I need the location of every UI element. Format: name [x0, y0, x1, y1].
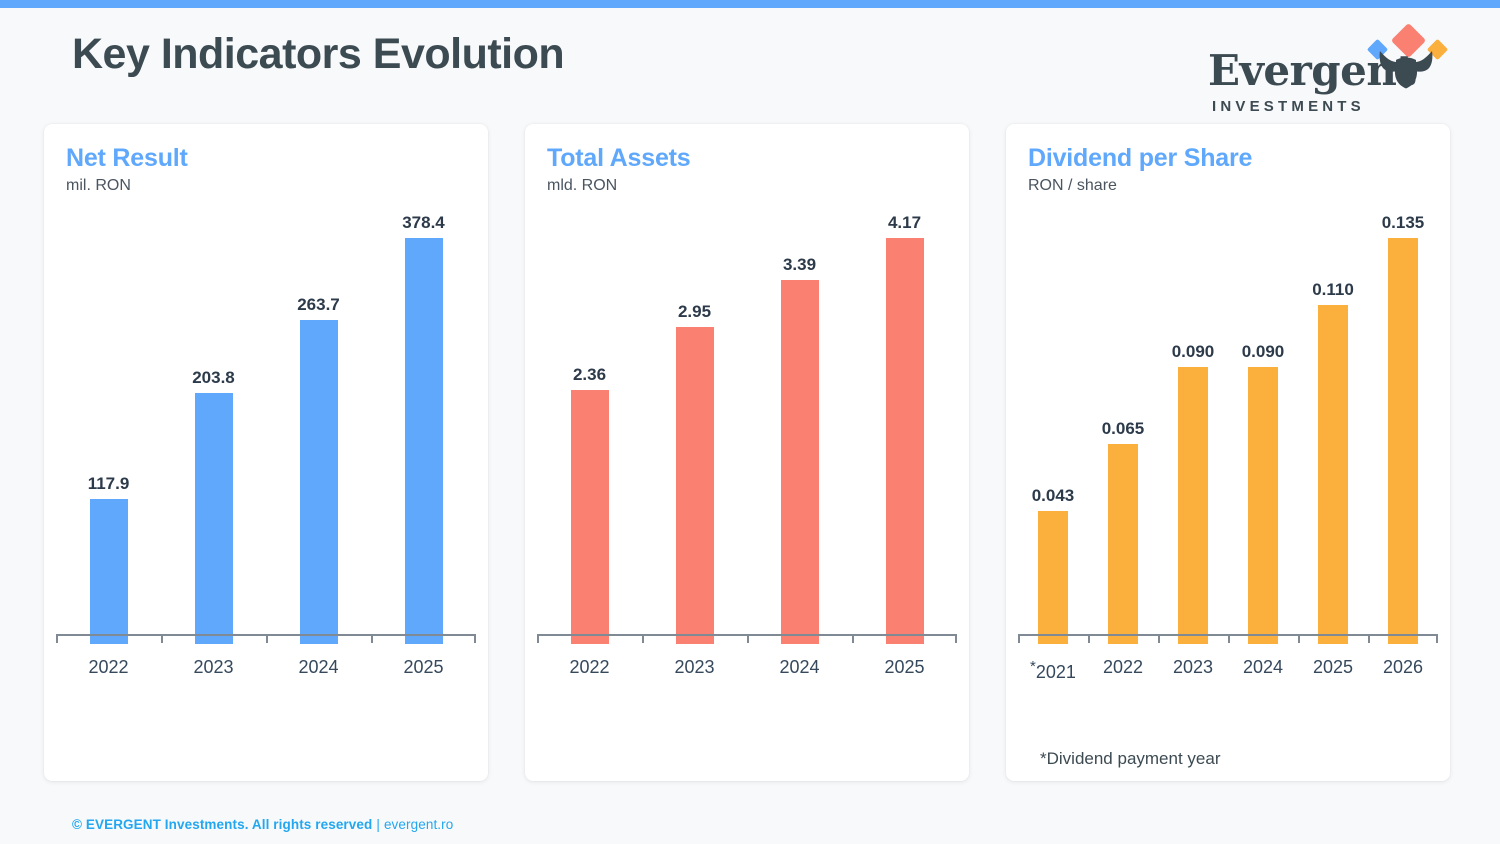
card-total-assets: Total Assets mld. RON 2.36 2.95 3.39 4.1… — [525, 124, 969, 781]
bar-group: 263.7 — [266, 214, 371, 644]
axis-tick — [1018, 634, 1020, 643]
bar — [405, 238, 443, 644]
bar-group: 203.8 — [161, 214, 266, 644]
x-axis-label-text: 2021 — [1036, 662, 1076, 682]
x-axis-label: 2023 — [161, 652, 266, 682]
footer-separator: | — [376, 817, 380, 832]
card-title: Total Assets — [547, 144, 690, 173]
bar-group: 0.043 — [1018, 214, 1088, 644]
slide-header: Key Indicators Evolution Evergent INVEST… — [0, 8, 1500, 118]
x-axis-label: 2024 — [1228, 652, 1298, 682]
x-axis — [56, 634, 476, 644]
cards-container: Net Result mil. RON 117.9 203.8 263.7 37… — [44, 124, 1456, 781]
card-title: Dividend per Share — [1028, 144, 1252, 173]
chart-net-result: 117.9 203.8 263.7 378.4 2022 2023 2024 — [56, 214, 476, 704]
bar-group: 0.135 — [1368, 214, 1438, 644]
chart-footnote: *Dividend payment year — [1040, 749, 1220, 769]
logo-subtitle: INVESTMENTS — [1212, 98, 1365, 115]
bar — [300, 320, 338, 644]
x-axis-label: 2023 — [642, 652, 747, 682]
plot-area: 2.36 2.95 3.39 4.17 — [537, 214, 957, 644]
bar-value-label: 0.090 — [1242, 343, 1285, 360]
bar — [1318, 305, 1348, 644]
bar-group: 0.110 — [1298, 214, 1368, 644]
axis-tick — [1298, 634, 1300, 643]
x-axis-label: 2026 — [1368, 652, 1438, 682]
bar-group: 0.065 — [1088, 214, 1158, 644]
bar-group: 378.4 — [371, 214, 476, 644]
axis-tick — [747, 634, 749, 643]
bar-group: 0.090 — [1158, 214, 1228, 644]
bar-value-label: 117.9 — [88, 475, 130, 492]
x-axis-label: *2021 — [1018, 652, 1088, 682]
bar-value-label: 378.4 — [402, 214, 445, 231]
bar-group: 4.17 — [852, 214, 957, 644]
bar-value-label: 0.110 — [1312, 281, 1354, 298]
bar — [1038, 511, 1068, 644]
x-axis-label: 2023 — [1158, 652, 1228, 682]
chart-total-assets: 2.36 2.95 3.39 4.17 2022 2023 2024 — [537, 214, 957, 704]
card-subtitle: mil. RON — [66, 177, 131, 195]
x-axis-label: 2022 — [1088, 652, 1158, 682]
x-axis-labels: 2022 2023 2024 2025 — [537, 652, 957, 682]
bar — [886, 238, 924, 644]
axis-tick — [474, 634, 476, 643]
bar — [676, 327, 714, 644]
chart-dividend-per-share: 0.043 0.065 0.090 0.090 0.110 0.135 — [1018, 214, 1438, 704]
bar — [1248, 367, 1278, 644]
bar — [1178, 367, 1208, 644]
footer-website-link[interactable]: evergent.ro — [384, 817, 453, 832]
bar-value-label: 0.065 — [1102, 420, 1145, 437]
bar-value-label: 4.17 — [888, 214, 921, 231]
card-net-result: Net Result mil. RON 117.9 203.8 263.7 37… — [44, 124, 488, 781]
bar-group: 0.090 — [1228, 214, 1298, 644]
axis-tick — [371, 634, 373, 643]
bar-group: 117.9 — [56, 214, 161, 644]
bar-value-label: 0.043 — [1032, 487, 1075, 504]
axis-tick — [1228, 634, 1230, 643]
x-axis — [537, 634, 957, 644]
plot-area: 117.9 203.8 263.7 378.4 — [56, 214, 476, 644]
x-axis-label: 2022 — [537, 652, 642, 682]
x-axis-labels: *2021 2022 2023 2024 2025 2026 — [1018, 652, 1438, 682]
bar — [90, 499, 128, 644]
x-axis-labels: 2022 2023 2024 2025 — [56, 652, 476, 682]
x-axis-label: 2022 — [56, 652, 161, 682]
bar — [195, 393, 233, 644]
bar-group: 2.36 — [537, 214, 642, 644]
bar-value-label: 3.39 — [783, 256, 816, 273]
x-axis-label: 2024 — [747, 652, 852, 682]
card-dividend-per-share: Dividend per Share RON / share 0.043 0.0… — [1006, 124, 1450, 781]
axis-tick — [537, 634, 539, 643]
axis-tick — [1368, 634, 1370, 643]
axis-tick — [642, 634, 644, 643]
card-subtitle: mld. RON — [547, 177, 617, 195]
bar — [1388, 238, 1418, 644]
bar-value-label: 203.8 — [192, 369, 235, 386]
slide-root: Key Indicators Evolution Evergent INVEST… — [0, 0, 1500, 844]
axis-tick — [56, 634, 58, 643]
card-title: Net Result — [66, 144, 188, 173]
bar — [1108, 444, 1138, 644]
bar-value-label: 0.090 — [1172, 343, 1215, 360]
x-axis — [1018, 634, 1438, 644]
logo-wordmark: Evergent — [1208, 50, 1415, 92]
bar — [781, 280, 819, 644]
bar-group: 3.39 — [747, 214, 852, 644]
x-axis-label: 2024 — [266, 652, 371, 682]
axis-tick — [1158, 634, 1160, 643]
axis-tick — [955, 634, 957, 643]
axis-tick — [266, 634, 268, 643]
axis-tick — [1436, 634, 1438, 643]
bar-group: 2.95 — [642, 214, 747, 644]
bar-value-label: 2.36 — [573, 366, 606, 383]
card-subtitle: RON / share — [1028, 177, 1117, 195]
bar-value-label: 2.95 — [678, 303, 711, 320]
footer-copyright: © EVERGENT Investments. All rights reser… — [72, 817, 372, 832]
axis-tick — [852, 634, 854, 643]
x-axis-label: 2025 — [852, 652, 957, 682]
axis-tick — [161, 634, 163, 643]
footer: © EVERGENT Investments. All rights reser… — [72, 817, 453, 832]
plot-area: 0.043 0.065 0.090 0.090 0.110 0.135 — [1018, 214, 1438, 644]
top-accent-bar — [0, 0, 1500, 8]
axis-tick — [1088, 634, 1090, 643]
brand-logo: Evergent INVESTMENTS — [1196, 20, 1456, 116]
bar — [571, 390, 609, 644]
bar-value-label: 0.135 — [1382, 214, 1425, 231]
x-axis-label: 2025 — [371, 652, 476, 682]
x-axis-label: 2025 — [1298, 652, 1368, 682]
page-title: Key Indicators Evolution — [72, 30, 564, 79]
bar-value-label: 263.7 — [297, 296, 340, 313]
